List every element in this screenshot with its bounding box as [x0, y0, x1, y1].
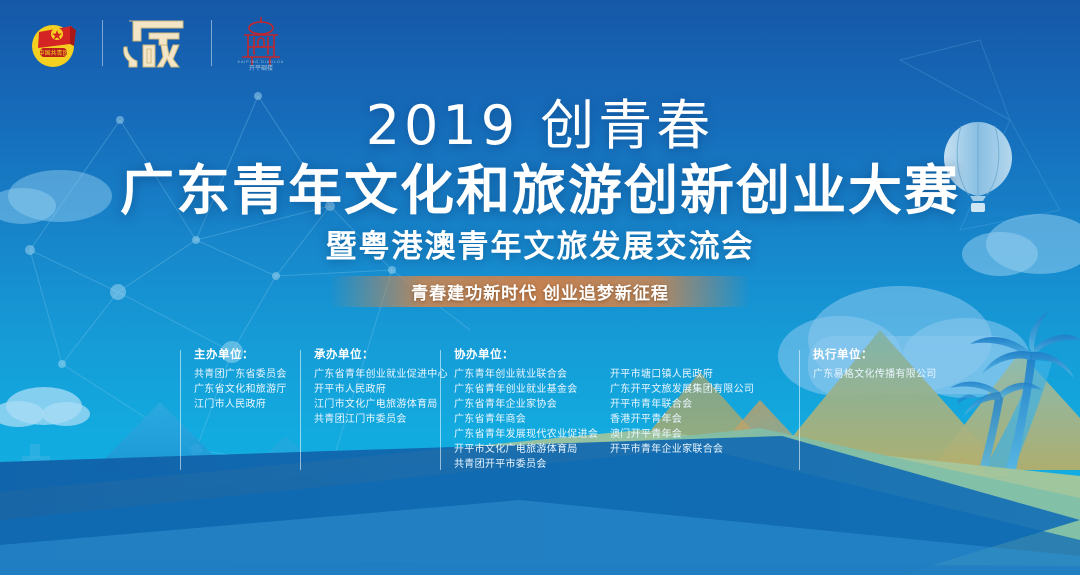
logo-divider-1: [102, 20, 103, 66]
title-main: 广东青年文化和旅游创新创业大赛: [0, 160, 1080, 222]
credit-item: 共青团广东省委员会: [194, 367, 300, 382]
credit-item: 共青团江门市委员会: [314, 412, 440, 427]
credit-item: 广东省青年商会: [454, 412, 610, 427]
credit-item: 江门市人民政府: [194, 397, 300, 412]
credit-item: 广东易格文化传播有限公司: [813, 367, 999, 382]
column-divider: [799, 350, 800, 470]
credit-heading: [610, 348, 785, 363]
credit-item: 开平市青年联合会: [610, 397, 785, 412]
title-year: 2019 创青春: [0, 96, 1080, 156]
credit-item: 澳门开平青年会: [610, 427, 785, 442]
credit-item: 广东省青年发展现代农业促进会: [454, 427, 610, 442]
credit-column-co-organizer-continued: 开平市塘口镇人民政府 广东开平文旅发展集团有限公司 开平市青年联合会 香港开平青…: [610, 348, 785, 472]
event-poster: 中国共青团: [0, 0, 1080, 575]
credit-item: 开平市塘口镇人民政府: [610, 367, 785, 382]
kaiping-diaolou-logo: KAIPING DIAOLOU 开平碉楼: [230, 13, 292, 73]
credit-column-co-organizer: 协办单位： 广东青年创业就业联合会 广东省青年创业就业基金会 广东省青年企业家协…: [440, 348, 610, 472]
credit-item: 香港开平青年会: [610, 412, 785, 427]
credit-item: 广东省青年创业就业基金会: [454, 382, 610, 397]
column-divider: [180, 350, 181, 470]
logo-divider-2: [211, 20, 212, 66]
credit-heading: 主办单位：: [194, 348, 300, 363]
credit-heading: 承办单位：: [314, 348, 440, 363]
credit-column-organizer: 主办单位： 共青团广东省委员会 广东省文化和旅游厅 江门市人民政府: [180, 348, 300, 472]
credit-item: 开平市文化广电旅游体育局: [454, 442, 610, 457]
title-sub: 暨粤港澳青年文旅发展交流会: [0, 228, 1080, 266]
credit-item: 广东省文化和旅游厅: [194, 382, 300, 397]
credit-item: 广东省青年创业就业促进中心: [314, 367, 440, 382]
credit-heading: 协办单位：: [454, 348, 610, 363]
column-divider: [300, 350, 301, 470]
svg-text:开平碉楼: 开平碉楼: [249, 64, 273, 72]
slogan-text: 青春建功新时代 创业追梦新征程: [411, 279, 669, 304]
column-divider: [440, 350, 441, 470]
svg-text:中国共青团: 中国共青团: [38, 49, 68, 57]
credit-item: 广东开平文旅发展集团有限公司: [610, 382, 785, 397]
credit-column-executor: 执行单位： 广东易格文化传播有限公司: [799, 348, 999, 472]
credit-item: 共青团开平市委员会: [454, 457, 610, 472]
credits-block: 主办单位： 共青团广东省委员会 广东省文化和旅游厅 江门市人民政府 承办单位： …: [180, 348, 1000, 472]
credit-item: 江门市文化广电旅游体育局: [314, 397, 440, 412]
credit-item: 开平市青年企业家联合会: [610, 442, 785, 457]
communist-youth-league-emblem: 中国共青团: [26, 14, 84, 72]
credit-item: 广东省青年企业家协会: [454, 397, 610, 412]
credit-heading: 执行单位：: [813, 348, 999, 363]
guangdong-chuangye-logo: [121, 15, 193, 71]
credit-item: 开平市人民政府: [314, 382, 440, 397]
title-block: 2019 创青春 广东青年文化和旅游创新创业大赛 暨粤港澳青年文旅发展交流会 青…: [0, 96, 1080, 307]
credit-column-host: 承办单位： 广东省青年创业就业促进中心 开平市人民政府 江门市文化广电旅游体育局…: [300, 348, 440, 472]
logo-row: 中国共青团: [26, 12, 292, 74]
slogan-banner: 青春建功新时代 创业追梦新征程: [330, 276, 750, 307]
svg-text:KAIPING DIAOLOU: KAIPING DIAOLOU: [238, 60, 285, 64]
credit-item: 广东青年创业就业联合会: [454, 367, 610, 382]
